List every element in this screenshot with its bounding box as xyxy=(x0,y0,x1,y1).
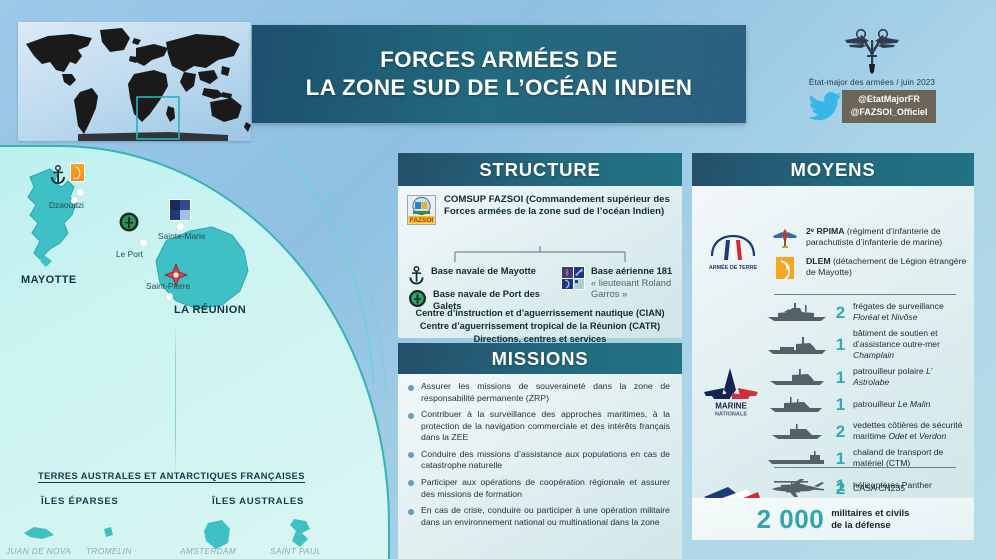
kit-row: 2 CASA CN235 xyxy=(766,477,970,499)
mission-text: Conduire des missions d’assistance aux p… xyxy=(421,449,670,472)
mission-item: Participer aux opérations de coopération… xyxy=(408,477,670,500)
terre-unit-name: 2ᵉ RPIMA xyxy=(806,226,845,236)
handle-fazsoi[interactable]: @FAZSOI_Officiel xyxy=(851,106,928,119)
naval-crest-icon-leport xyxy=(118,211,140,233)
air-base-crest-icon-map xyxy=(169,199,191,221)
handle-etatmajorfr[interactable]: @EtatMajorFR xyxy=(851,93,928,106)
territory-label-la-reunion: LA RÉUNION xyxy=(174,304,246,316)
dlem-badge-map xyxy=(70,163,85,182)
terre-unit-text: 2ᵉ RPIMA (régiment d’infanterie de parac… xyxy=(806,226,968,248)
structure-centres-list: Centre d’instruction et d’aguerrissement… xyxy=(398,307,682,346)
marine-nationale-logo-icon: MARINE NATIONALE xyxy=(700,366,762,418)
kit-text: bâtiment de soutien et d’assistance outr… xyxy=(853,328,970,361)
page-title-line-1: FORCES ARMÉES DE xyxy=(306,46,693,74)
org-chart-connector xyxy=(407,246,673,262)
casa-plane-icon xyxy=(766,477,828,499)
kit-row: 1 patrouilleur Le Malin xyxy=(766,393,970,415)
missions-body: Assurer les missions de souveraineté dan… xyxy=(398,374,682,559)
moyens-footer: 2 000 militaires et civils de la défense xyxy=(692,498,974,540)
city-label-leport: Le Port xyxy=(116,249,143,259)
support-ship-icon xyxy=(766,334,828,356)
kit-desc: patrouilleur xyxy=(853,399,898,409)
kit-count: 2 xyxy=(833,480,848,497)
etat-major-block: État-major des armées / juin 2023 @EtatM… xyxy=(782,24,962,134)
base-label-mayotte: Base navale de Mayotte xyxy=(431,266,536,278)
moyens-panel: MOYENS ARMÉE DE TERRE 2ᵉ RPIMA (régiment… xyxy=(692,153,974,528)
city-dot-saintemarie xyxy=(177,223,184,230)
terre-unit-name: DLEM xyxy=(806,256,831,266)
kit-text: chaland de transport de matériel (CTM) xyxy=(853,447,970,469)
kit-row: 2 vedettes côtières de sécurité maritime… xyxy=(766,420,970,442)
terre-unit-row: DLEM (détachement de Légion étrangère de… xyxy=(772,256,968,280)
taaf-title: TERRES AUSTRALES ET ANTARCTIQUES FRANÇAI… xyxy=(38,471,305,483)
bullet-icon xyxy=(408,480,414,486)
bullet-icon xyxy=(408,385,414,391)
world-map-card xyxy=(18,22,251,141)
island-shape-juan-de-nova xyxy=(20,523,60,543)
kit-ship-name: Odet xyxy=(888,431,907,441)
air-base-subtitle: « lieutenant Roland Garros » xyxy=(591,278,677,301)
structure-air-base: Base aérienne 181 « lieutenant Roland Ga… xyxy=(561,266,677,301)
comsup-row: FAZSOI COMSUP FAZSOI (Commandement supér… xyxy=(407,194,673,225)
kit-text: patrouilleur polaire L’ Astrolabe xyxy=(853,366,970,388)
kit-row: 2 frégates de surveillance Floréal et Ni… xyxy=(766,301,970,323)
moyens-terre-list: 2ᵉ RPIMA (régiment d’infanterie de parac… xyxy=(772,226,968,286)
base-item-mayotte: Base navale de Mayotte xyxy=(408,266,556,285)
moyens-body: ARMÉE DE TERRE 2ᵉ RPIMA (régiment d’infa… xyxy=(692,186,974,528)
svg-text:MARINE: MARINE xyxy=(715,402,747,411)
separator-terre-marine xyxy=(774,294,956,295)
air-base-crest-icon xyxy=(561,266,585,290)
city-label-saintpierre: Saint-Pierre xyxy=(146,281,190,291)
structure-heading: STRUCTURE xyxy=(398,153,682,186)
main-title-banner: FORCES ARMÉES DE LA ZONE SUD DE L’OCÉAN … xyxy=(252,25,746,123)
mission-item: Conduire des missions d’assistance aux p… xyxy=(408,449,670,472)
centre-catr: Centre d’aguerrissement tropical de la R… xyxy=(398,320,682,333)
comsup-label: COMSUP FAZSOI (Commandement supérieur de… xyxy=(444,194,673,218)
kit-ship-name2: Verdon xyxy=(919,431,946,441)
page-title: FORCES ARMÉES DE LA ZONE SUD DE L’OCÉAN … xyxy=(306,46,693,103)
svg-text:ARMÉE DE TERRE: ARMÉE DE TERRE xyxy=(709,263,758,271)
island-label-tromelin: TROMELIN xyxy=(86,546,132,556)
base-label-aerienne-181: Base aérienne 181 « lieutenant Roland Ga… xyxy=(591,266,677,301)
group-label-iles-eparses: ÎLES ÉPARSES xyxy=(41,496,119,507)
mission-text: Participer aux opérations de coopération… xyxy=(421,477,670,500)
personnel-label: militaires et civils de la défense xyxy=(831,507,909,531)
kit-desc2: et xyxy=(879,312,891,322)
air-base-name: Base aérienne 181 xyxy=(591,266,672,276)
zone-map-panel: Dzaoudzi Le Port Sainte-Marie Saint-Pier… xyxy=(0,145,390,559)
moyens-marine-list: 2 frégates de surveillance Floréal et Ni… xyxy=(766,301,970,501)
group-label-iles-australes: ÎLES AUSTRALES xyxy=(212,496,304,507)
kit-desc: bâtiment de soutien et d’assistance outr… xyxy=(853,328,940,349)
twitter-handles[interactable]: @EtatMajorFR @FAZSOI_Officiel xyxy=(842,90,937,123)
armee-de-terre-logo-icon: ARMÉE DE TERRE xyxy=(702,234,764,272)
map-column-divider xyxy=(175,323,176,478)
kit-count: 1 xyxy=(833,369,848,386)
kit-ship-name2: Nivôse xyxy=(891,312,917,322)
page-title-line-2: LA ZONE SUD DE L’OCÉAN INDIEN xyxy=(306,74,693,102)
kit-text: patrouilleur Le Malin xyxy=(853,399,930,410)
bullet-icon xyxy=(408,452,414,458)
twitter-icon[interactable] xyxy=(808,91,842,121)
city-label-dzaoudzi: Dzaoudzi xyxy=(49,200,84,210)
anchor-icon-mayotte xyxy=(49,165,67,185)
mission-text: Contribuer à la surveillance des approch… xyxy=(421,409,670,444)
kit-ship-name: Champlain xyxy=(853,350,894,360)
kit-row: 1 patrouilleur polaire L’ Astrolabe xyxy=(766,366,970,388)
city-dot-dzaoudzi xyxy=(77,189,84,196)
missions-heading: MISSIONS xyxy=(398,343,682,374)
kit-ship-name: Le Malin xyxy=(898,399,930,409)
frigate-icon xyxy=(766,301,828,323)
naval-crest-icon xyxy=(408,289,427,308)
svg-text:NATIONALE: NATIONALE xyxy=(715,412,747,418)
kit-text: CASA CN235 xyxy=(853,483,905,494)
mission-text: En cas de crise, conduire ou participer … xyxy=(421,505,670,528)
city-label-saintemarie: Sainte-Marie xyxy=(158,231,205,241)
landing-craft-icon xyxy=(766,447,828,469)
polar-patrol-icon xyxy=(766,366,828,388)
fazsoi-crest-icon: FAZSOI xyxy=(407,195,436,225)
bullet-icon xyxy=(408,509,414,515)
kit-desc: patrouilleur polaire xyxy=(853,366,926,376)
structure-panel: STRUCTURE FAZSOI COMSUP FAZSOI (Commande… xyxy=(398,153,682,338)
kit-text: vedettes côtières de sécurité maritime O… xyxy=(853,420,970,442)
island-label-amsterdam: AMSTERDAM xyxy=(180,546,236,556)
ema-caption: État-major des armées / juin 2023 xyxy=(809,78,935,87)
etat-major-des-armees-emblem-icon xyxy=(841,24,903,76)
coastal-vedette-icon xyxy=(766,420,828,442)
city-dot-leport xyxy=(140,239,147,246)
kit-count: 1 xyxy=(833,450,848,467)
kit-row: 1 bâtiment de soutien et d’assistance ou… xyxy=(766,328,970,361)
social-bar[interactable]: @EtatMajorFR @FAZSOI_Officiel xyxy=(808,90,937,123)
patrol-boat-icon xyxy=(766,393,828,415)
world-continents xyxy=(26,28,251,141)
personnel-label-line-2: de la défense xyxy=(831,519,909,531)
world-map-svg xyxy=(18,22,251,141)
city-dot-saintpierre xyxy=(166,293,173,300)
anchor-icon xyxy=(408,266,425,285)
structure-body: FAZSOI COMSUP FAZSOI (Commandement supér… xyxy=(398,186,682,338)
separator-marine-air xyxy=(774,467,956,468)
mission-item: En cas de crise, conduire ou participer … xyxy=(408,505,670,528)
kit-ship-name: Floréal xyxy=(853,312,879,322)
island-shape-tromelin xyxy=(98,523,118,543)
territory-label-mayotte: MAYOTTE xyxy=(21,274,77,286)
mayotte-island-shape xyxy=(10,167,96,287)
bullet-icon xyxy=(408,413,414,419)
kit-row: 1 chaland de transport de matériel (CTM) xyxy=(766,447,970,469)
island-label-juan-de-nova: JUAN DE NOVA xyxy=(6,546,71,556)
mission-item: Contribuer à la surveillance des approch… xyxy=(408,409,670,444)
mission-text: Assurer les missions de souveraineté dan… xyxy=(421,381,670,404)
personnel-label-line-1: militaires et civils xyxy=(831,507,909,519)
kit-count: 1 xyxy=(833,336,848,353)
moyens-heading: MOYENS xyxy=(692,153,974,186)
kit-count: 2 xyxy=(833,423,848,440)
svg-text:FAZSOI: FAZSOI xyxy=(410,217,434,224)
base-item-aerienne-181: Base aérienne 181 « lieutenant Roland Ga… xyxy=(561,266,677,301)
kit-count: 2 xyxy=(833,304,848,321)
kit-desc2: et xyxy=(907,431,919,441)
kit-count: 1 xyxy=(833,396,848,413)
terre-unit-text: DLEM (détachement de Légion étrangère de… xyxy=(806,256,968,278)
kit-text: frégates de surveillance Floréal et Nivô… xyxy=(853,301,970,323)
kit-desc: frégates de surveillance xyxy=(853,301,944,311)
centre-cian: Centre d’instruction et d’aguerrissement… xyxy=(398,307,682,320)
dlem-insignia-icon xyxy=(772,256,798,280)
terre-unit-row: 2ᵉ RPIMA (régiment d’infanterie de parac… xyxy=(772,226,968,250)
personnel-count: 2 000 xyxy=(757,504,825,535)
missions-panel: MISSIONS Assurer les missions de souvera… xyxy=(398,343,682,559)
mission-item: Assurer les missions de souveraineté dan… xyxy=(408,381,670,404)
terre-unit-desc: (détachement de Légion étrangère de Mayo… xyxy=(806,256,966,277)
island-label-saint-paul: SAINT PAUL xyxy=(270,546,321,556)
rpima-insignia-icon xyxy=(772,226,798,250)
